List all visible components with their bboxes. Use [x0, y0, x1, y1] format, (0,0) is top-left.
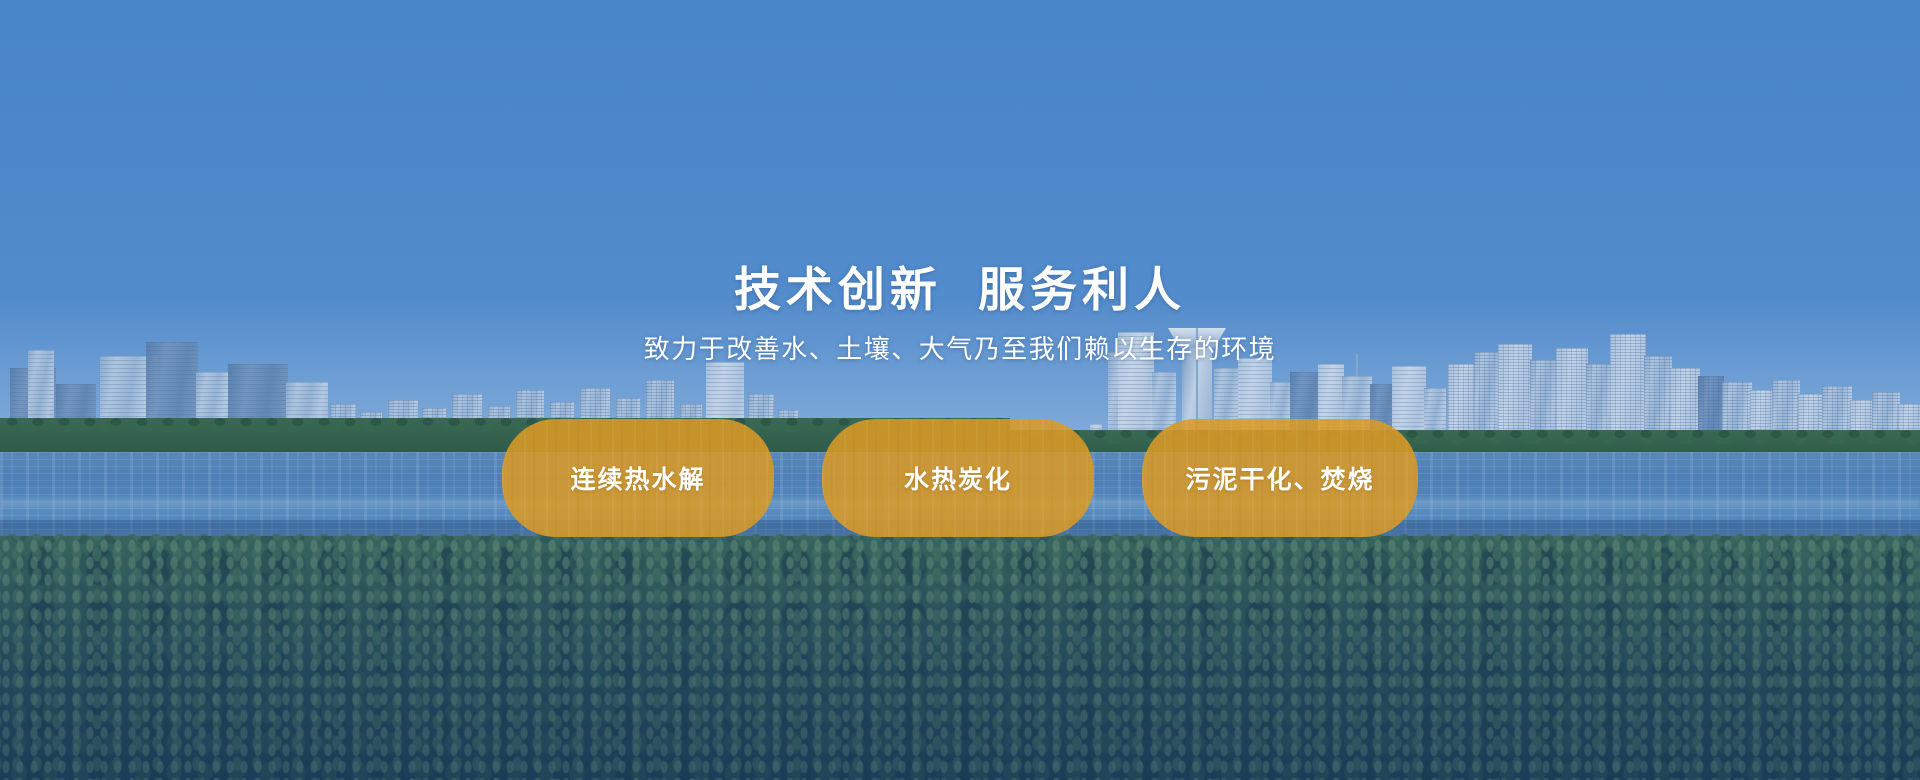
hero-content: 技术创新 服务利人 致力于改善水、土壤、大气乃至我们赖以生存的环境 连续热水解 … [0, 0, 1920, 780]
service-button-label: 水热炭化 [904, 460, 1012, 496]
service-button-label: 污泥干化、焚烧 [1185, 460, 1374, 496]
hero-banner: 技术创新 服务利人 致力于改善水、土壤、大气乃至我们赖以生存的环境 连续热水解 … [0, 0, 1920, 780]
service-button-row: 连续热水解 水热炭化 污泥干化、焚烧 [502, 419, 1418, 537]
service-button-sludge-drying-incineration[interactable]: 污泥干化、焚烧 [1142, 419, 1418, 537]
service-button-label: 连续热水解 [570, 460, 705, 496]
page-title: 技术创新 服务利人 [734, 262, 1186, 317]
page-subtitle: 致力于改善水、土壤、大气乃至我们赖以生存的环境 [644, 333, 1277, 367]
service-button-hydrothermal-carbonization[interactable]: 水热炭化 [822, 419, 1094, 537]
service-button-continuous-thermal-hydrolysis[interactable]: 连续热水解 [502, 419, 774, 537]
